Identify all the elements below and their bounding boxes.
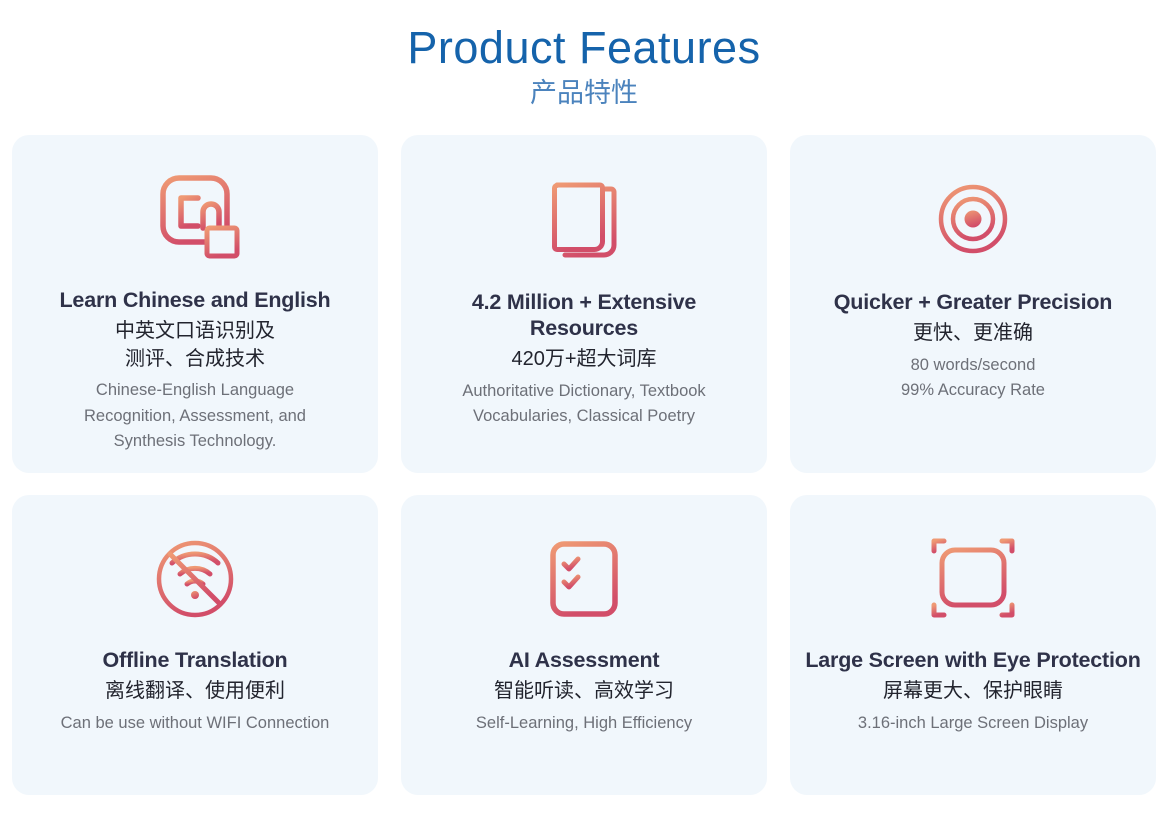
feature-card-extensive-resources[interactable]: 4.2 Million + Extensive Resources 420万+超… (401, 135, 767, 473)
card-title-chinese-line: 更快、更准确 (913, 320, 1033, 348)
card-description-line: Vocabularies, Classical Poetry (462, 404, 705, 430)
card-title-chinese: 屏幕更大、保护眼睛 (883, 678, 1063, 706)
checklist-icon (530, 525, 638, 633)
card-description: Self-Learning, High Efficiency (476, 711, 692, 737)
card-title-chinese-line: 测评、合成技术 (115, 346, 275, 374)
card-description-line: Synthesis Technology. (84, 429, 306, 455)
card-title-chinese-line: 智能听读、高效学习 (494, 678, 674, 706)
document-stack-icon (530, 165, 638, 277)
wifi-off-icon (141, 525, 249, 633)
card-title-chinese-line: 屏幕更大、保护眼睛 (883, 678, 1063, 706)
card-description: Can be use without WIFI Connection (61, 711, 330, 737)
feature-card-ai-assessment[interactable]: AI Assessment 智能听读、高效学习 Self-Learning, H… (401, 495, 767, 795)
card-description-line: Self-Learning, High Efficiency (476, 711, 692, 737)
feature-card-grid: Learn Chinese and English 中英文口语识别及 测评、合成… (12, 135, 1156, 795)
feature-card-offline-translation[interactable]: Offline Translation 离线翻译、使用便利 Can be use… (12, 495, 378, 795)
card-title-chinese: 离线翻译、使用便利 (105, 678, 285, 706)
card-title: Quicker + Greater Precision (834, 289, 1112, 315)
card-title-chinese: 中英文口语识别及 测评、合成技术 (115, 318, 275, 373)
card-description: Authoritative Dictionary, Textbook Vocab… (462, 379, 705, 430)
card-title: AI Assessment (509, 647, 660, 673)
card-description-line: 3.16-inch Large Screen Display (858, 711, 1088, 737)
en-zh-language-icon (141, 165, 249, 275)
card-description-line: Can be use without WIFI Connection (61, 711, 330, 737)
card-title-chinese-line: 离线翻译、使用便利 (105, 678, 285, 706)
target-bullseye-icon (919, 165, 1027, 277)
card-title-chinese: 智能听读、高效学习 (494, 678, 674, 706)
product-features-page: Product Features 产品特性 (0, 0, 1168, 816)
card-description: 80 words/second 99% Accuracy Rate (901, 353, 1045, 404)
card-description-line: Chinese-English Language (84, 378, 306, 404)
card-description: 3.16-inch Large Screen Display (858, 711, 1088, 737)
card-title: 4.2 Million + Extensive Resources (415, 289, 753, 341)
card-title: Learn Chinese and English (60, 287, 331, 313)
card-title-chinese-line: 中英文口语识别及 (115, 318, 275, 346)
card-description-line: Recognition, Assessment, and (84, 404, 306, 430)
card-description-line: 99% Accuracy Rate (901, 378, 1045, 404)
page-subtitle-chinese: 产品特性 (12, 76, 1156, 111)
feature-card-large-screen-eye-protection[interactable]: Large Screen with Eye Protection 屏幕更大、保护… (790, 495, 1156, 795)
card-title-chinese-line: 420万+超大词库 (511, 346, 656, 374)
card-description-line: 80 words/second (901, 353, 1045, 379)
screen-viewfinder-icon (914, 525, 1032, 633)
card-title-chinese: 420万+超大词库 (511, 346, 656, 374)
card-title: Large Screen with Eye Protection (805, 647, 1140, 673)
card-title: Offline Translation (103, 647, 288, 673)
feature-card-quicker-greater-precision[interactable]: Quicker + Greater Precision 更快、更准确 80 wo… (790, 135, 1156, 473)
feature-card-learn-chinese-and-english[interactable]: Learn Chinese and English 中英文口语识别及 测评、合成… (12, 135, 378, 473)
card-description-line: Authoritative Dictionary, Textbook (462, 379, 705, 405)
page-header: Product Features 产品特性 (12, 0, 1156, 111)
card-description: Chinese-English Language Recognition, As… (84, 378, 306, 455)
page-title: Product Features (12, 22, 1156, 74)
card-title-chinese: 更快、更准确 (913, 320, 1033, 348)
